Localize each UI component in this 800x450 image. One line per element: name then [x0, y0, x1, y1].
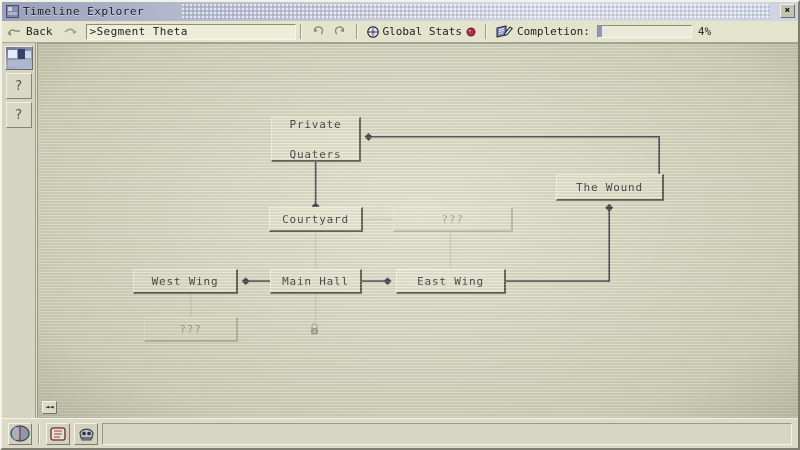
graph-node-label: East Wing	[417, 274, 484, 289]
graph-node-private-quaters[interactable]: PrivateQuaters	[271, 117, 361, 162]
graph-node-main-hall[interactable]: Main Hall	[270, 269, 362, 294]
red-dot-icon	[466, 27, 476, 37]
graph-node-label: West Wing	[152, 274, 219, 289]
map-thumbnail[interactable]	[5, 46, 33, 70]
undo-button[interactable]	[306, 22, 329, 42]
status-bar	[2, 418, 798, 448]
graph-node-label: ???	[179, 322, 201, 337]
globe-icon	[367, 26, 379, 38]
completion-label: Completion:	[517, 25, 590, 38]
completion-button[interactable]: Completion:	[491, 22, 595, 42]
address-input[interactable]: >Segment Theta	[86, 24, 296, 40]
completion-percent: 4%	[698, 25, 711, 38]
completion-progress-group: 4%	[597, 25, 711, 38]
window-app-icon	[6, 5, 19, 18]
graph-edge-east-wing-to-the-wound-arrow	[605, 204, 613, 212]
global-stats-button[interactable]: Global Stats	[362, 22, 481, 42]
redo-arrow-icon	[334, 26, 347, 38]
graph-node-west-wing[interactable]: West Wing	[133, 269, 238, 294]
graph-node-label: Private	[290, 117, 342, 132]
graph-edge-main-hall-to-east-wing-arrow	[384, 277, 392, 285]
sidebar: ? ?	[2, 43, 36, 418]
graph-node-unknown-upper-right[interactable]: ???	[393, 207, 513, 232]
graph-edge-east-wing-to-the-wound	[505, 209, 609, 281]
toolbar-divider-3	[485, 24, 487, 39]
graph-canvas[interactable]: PrivateQuatersThe WoundCourtyard???West …	[37, 43, 798, 418]
graph-node-east-wing[interactable]: East Wing	[396, 269, 506, 294]
timeline-explorer-window: Timeline Explorer ✖ Back >Segment Theta	[0, 0, 800, 450]
graph-edge-main-hall-to-west-wing-arrow	[242, 277, 250, 285]
forward-button[interactable]	[58, 22, 84, 42]
completion-progress-bar	[597, 25, 692, 38]
arrow-right-icon	[63, 27, 79, 37]
graph-node-label: Main Hall	[282, 274, 349, 289]
redo-button[interactable]	[329, 22, 352, 42]
toolbar: Back >Segment Theta Global Stats	[2, 21, 798, 43]
graph-edge-the-wound-to-private-quaters-arrow	[365, 133, 373, 141]
graph-node-courtyard[interactable]: Courtyard	[269, 207, 363, 232]
arrow-left-icon	[7, 27, 22, 37]
sidebar-unknown-1[interactable]: ?	[6, 73, 32, 99]
back-label: Back	[26, 25, 53, 38]
status-compass-icon[interactable]	[8, 423, 32, 445]
window-title: Timeline Explorer	[23, 5, 144, 18]
status-skull-icon[interactable]	[74, 423, 98, 445]
pencil-note-icon	[496, 25, 513, 38]
sidebar-unknown-2[interactable]: ?	[6, 102, 32, 128]
graph-node-label: ???	[441, 212, 463, 227]
scroll-left-button[interactable]: ◄◄	[42, 401, 57, 414]
graph-node-label: The Wound	[576, 180, 643, 195]
undo-arrow-icon	[311, 26, 324, 38]
graph-edge-the-wound-to-private-quaters	[370, 137, 660, 174]
status-journal-icon[interactable]	[46, 423, 70, 445]
status-empty-area	[102, 423, 792, 445]
back-button[interactable]: Back	[2, 22, 58, 42]
title-bar[interactable]: Timeline Explorer ✖	[2, 2, 798, 21]
toolbar-divider-2	[356, 24, 358, 39]
graph-node-label: Courtyard	[282, 212, 349, 227]
toolbar-divider-1	[300, 24, 302, 39]
global-stats-label: Global Stats	[383, 25, 462, 38]
lock-icon[interactable]	[310, 320, 319, 332]
close-icon[interactable]: ✖	[780, 4, 795, 18]
graph-node-label: Quaters	[290, 147, 342, 162]
status-divider	[38, 424, 40, 444]
graph-node-the-wound[interactable]: The Wound	[556, 174, 664, 201]
graph-node-unknown-lower-left[interactable]: ???	[144, 317, 238, 342]
